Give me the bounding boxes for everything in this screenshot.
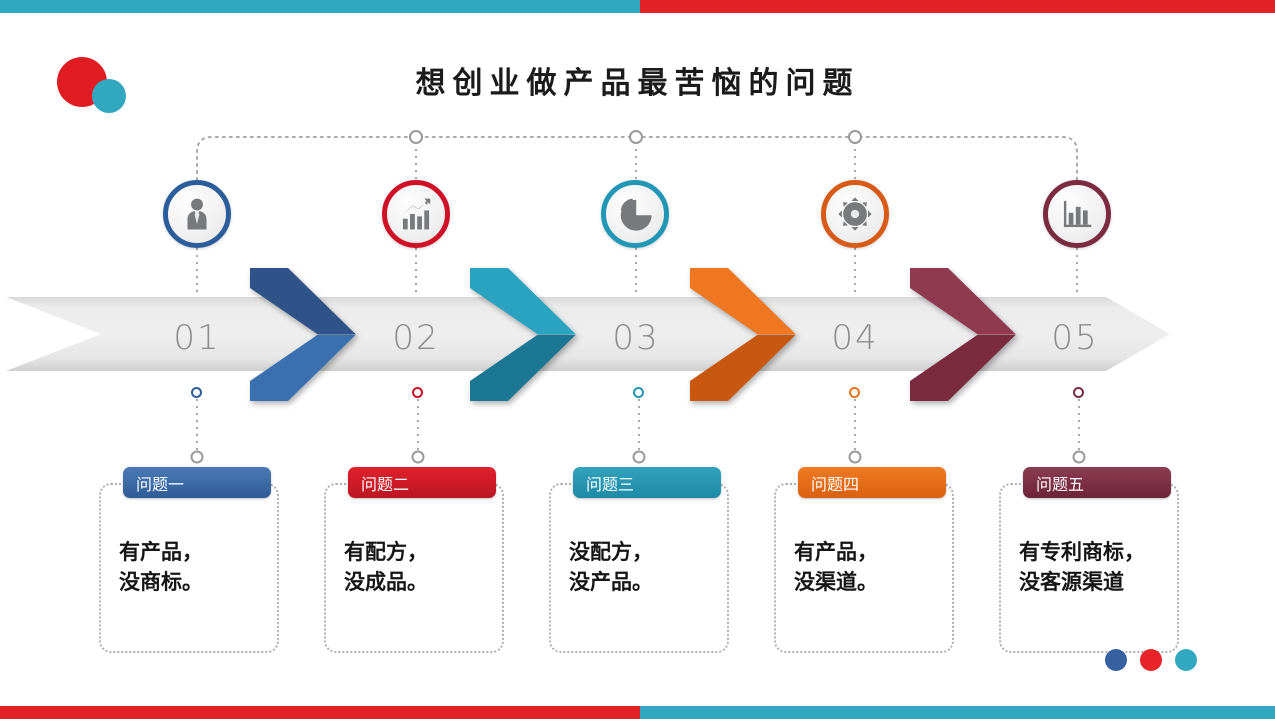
step-dot-4 <box>849 387 860 398</box>
segment-number-03: 03 <box>591 318 681 358</box>
card-header-3: 问题三 <box>573 467 721 498</box>
step-icon-3[interactable] <box>601 180 669 248</box>
footer-dots <box>1105 649 1197 671</box>
chevron-3-bottom <box>690 335 796 402</box>
segment-number-02: 02 <box>371 318 461 358</box>
chevron-1-top <box>250 268 356 335</box>
step-dot-3 <box>633 387 644 398</box>
chevron-4-bottom <box>910 335 1016 402</box>
step-icon-4[interactable] <box>821 180 889 248</box>
chevron-3-top <box>690 268 796 335</box>
card-body-4: 有产品， 没渠道。 <box>794 537 942 598</box>
top-bar-teal-segment <box>0 0 640 13</box>
chevron-arrow-3 <box>690 268 796 401</box>
segment-number-05: 05 <box>1030 318 1120 358</box>
card-1-line-1: 有产品， <box>119 537 267 567</box>
step-icon-5[interactable] <box>1043 180 1111 248</box>
card-header-1: 问题一 <box>123 467 271 498</box>
card-5-line-1: 有专利商标， <box>1019 537 1167 567</box>
chevron-arrow-4 <box>910 268 1016 401</box>
top-bar-red-segment <box>640 0 1275 13</box>
step-dot-5 <box>1073 387 1084 398</box>
pie-chart-icon <box>616 195 654 233</box>
footer-dot-blue <box>1105 649 1127 671</box>
footer-dot-teal <box>1175 649 1197 671</box>
bottom-bar-red-segment <box>0 706 640 719</box>
card-header-5: 问题五 <box>1023 467 1171 498</box>
card-4-line-1: 有产品， <box>794 537 942 567</box>
problem-card-5[interactable]: 问题五 有专利商标， 没客源渠道 <box>999 483 1179 653</box>
problem-card-2[interactable]: 问题二 有配方， 没成品。 <box>324 483 504 653</box>
step-dot-2 <box>412 387 423 398</box>
businessman-icon <box>178 195 216 233</box>
card-4-line-2: 没渠道。 <box>794 567 942 597</box>
chevron-4-top <box>910 268 1016 335</box>
chevron-2-bottom <box>470 335 576 402</box>
card-header-4: 问题四 <box>798 467 946 498</box>
card-body-3: 没配方， 没产品。 <box>569 537 717 598</box>
chevron-arrow-1 <box>250 268 356 401</box>
card-2-line-2: 没成品。 <box>344 567 492 597</box>
card-5-line-2: 没客源渠道 <box>1019 567 1167 597</box>
chevron-1-bottom <box>250 335 356 402</box>
chevron-2-top <box>470 268 576 335</box>
step-icon-2[interactable] <box>382 180 450 248</box>
segment-number-04: 04 <box>810 318 900 358</box>
step-icon-1[interactable] <box>163 180 231 248</box>
gear-icon <box>836 195 874 233</box>
card-body-2: 有配方， 没成品。 <box>344 537 492 598</box>
growth-bar-chart-icon <box>397 195 435 233</box>
step-dot-1 <box>191 387 202 398</box>
card-body-5: 有专利商标， 没客源渠道 <box>1019 537 1167 598</box>
problem-card-4[interactable]: 问题四 有产品， 没渠道。 <box>774 483 954 653</box>
page-title: 想创业做产品最苦恼的问题 <box>0 58 1275 102</box>
card-3-line-1: 没配方， <box>569 537 717 567</box>
problem-card-1[interactable]: 问题一 有产品， 没商标。 <box>99 483 279 653</box>
card-header-2: 问题二 <box>348 467 496 498</box>
problem-card-3[interactable]: 问题三 没配方， 没产品。 <box>549 483 729 653</box>
card-1-line-2: 没商标。 <box>119 567 267 597</box>
bar-chart-axis-icon <box>1058 195 1096 233</box>
card-3-line-2: 没产品。 <box>569 567 717 597</box>
chevron-arrow-2 <box>470 268 576 401</box>
top-accent-bar <box>0 0 1275 13</box>
bottom-bar-teal-segment <box>640 706 1275 719</box>
segment-number-01: 01 <box>152 318 242 358</box>
footer-dot-red <box>1140 649 1162 671</box>
bottom-accent-bar <box>0 706 1275 719</box>
card-2-line-1: 有配方， <box>344 537 492 567</box>
card-body-1: 有产品， 没商标。 <box>119 537 267 598</box>
